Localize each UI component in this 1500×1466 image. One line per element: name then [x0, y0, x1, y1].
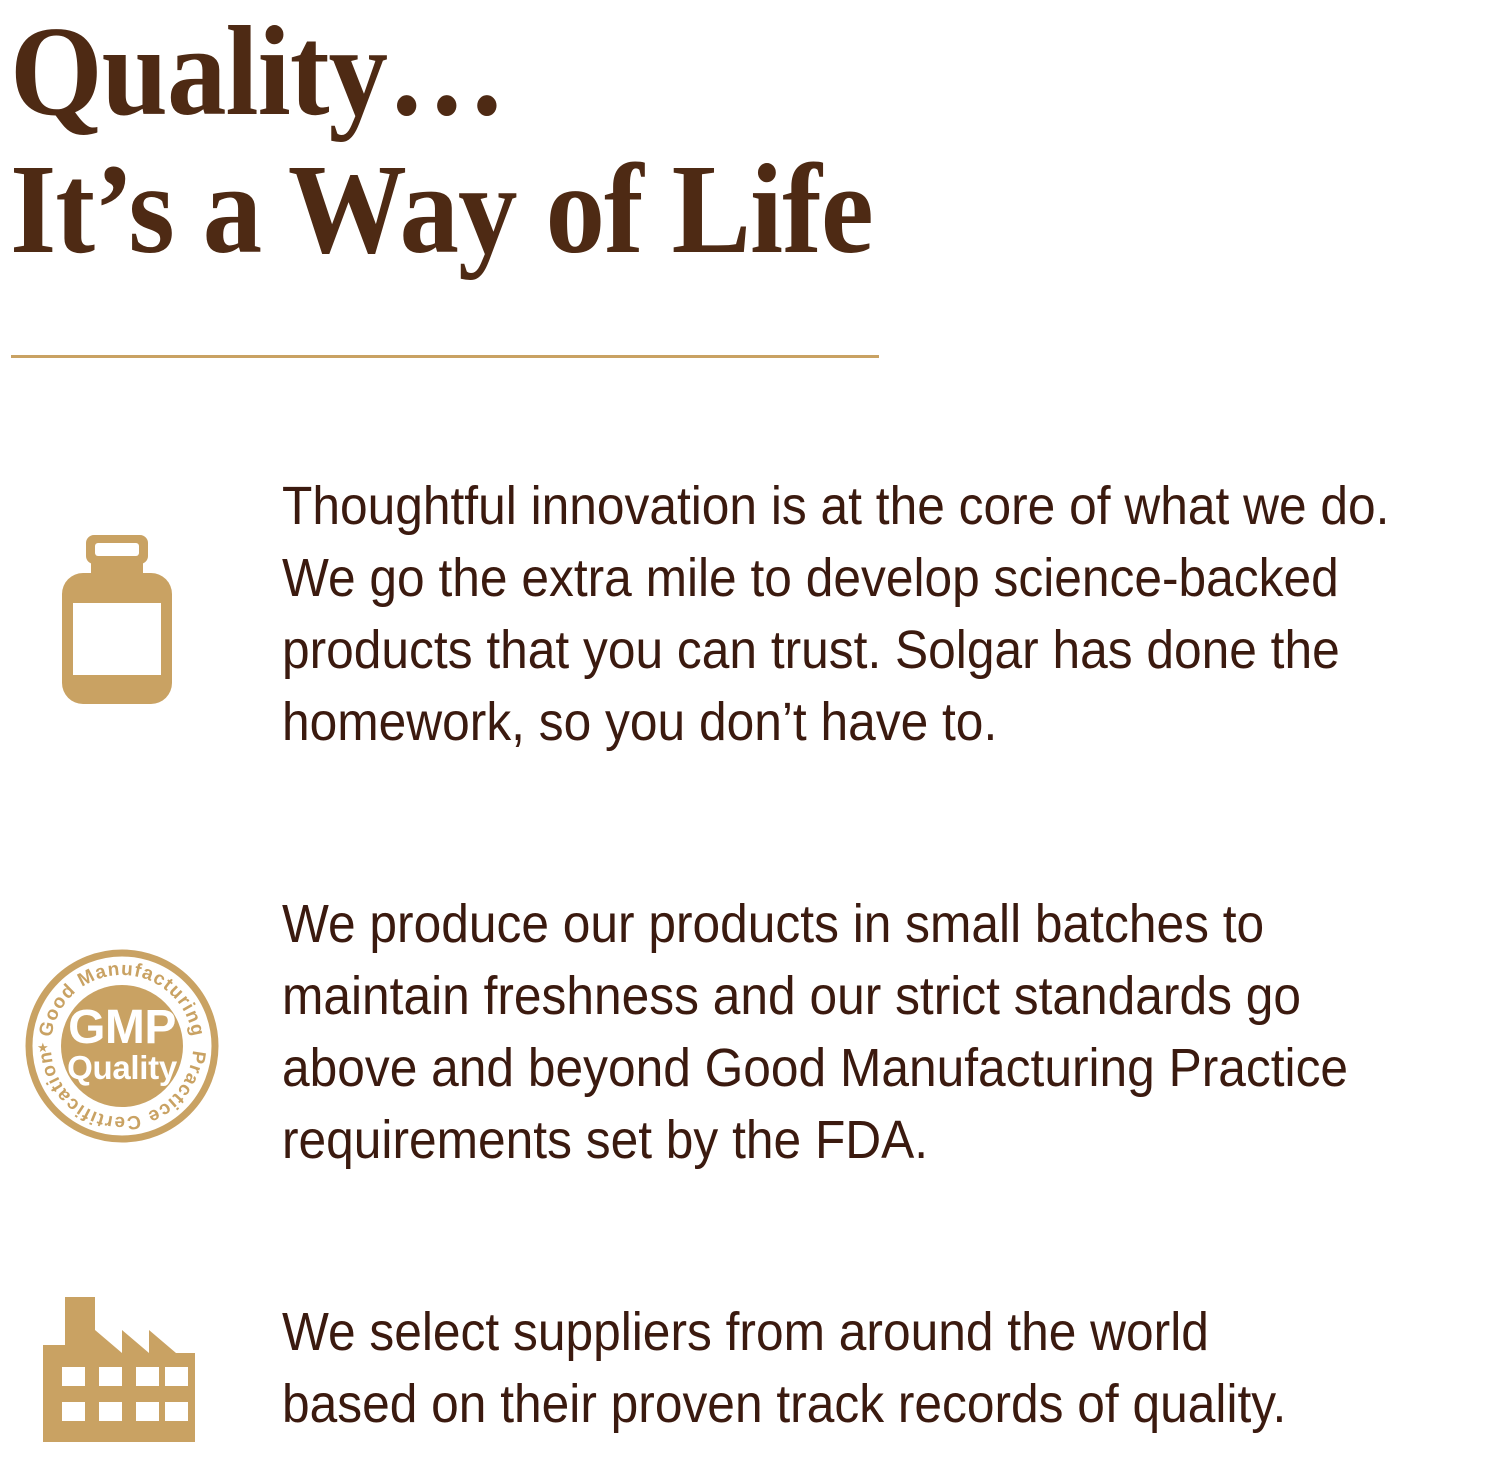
feature-icon-slot: Good Manufacturing Practice Certificatio…: [0, 888, 250, 1188]
supplement-bottle-icon: [61, 535, 173, 710]
page-title: Quality… It’s a Way of Life: [10, 2, 1210, 278]
feature-icon-slot: [0, 1296, 250, 1466]
page-title-line-1: Quality…: [10, 2, 1126, 140]
gmp-center-line-1: GMP: [68, 1001, 176, 1054]
feature-text-line: based on their proven track records of q…: [282, 1368, 1400, 1440]
feature-icon-slot: [0, 470, 250, 770]
feature-text-line: We produce our products in small batches…: [282, 888, 1400, 960]
gmp-quality-seal-icon: Good Manufacturing Practice Certificatio…: [24, 948, 220, 1149]
feature-text-line: maintain freshness and our strict standa…: [282, 960, 1400, 1032]
gmp-star-icon: ★: [37, 1041, 49, 1056]
gmp-center-line-2: Quality: [67, 1049, 178, 1086]
gold-divider-rule: [11, 355, 879, 358]
feature-text-line: products that you can trust. Solgar has …: [282, 614, 1400, 686]
feature-text-line: Thoughtful innovation is at the core of …: [282, 470, 1400, 542]
feature-text-gmp: We produce our products in small batches…: [282, 888, 1400, 1176]
feature-text-line: homework, so you don’t have to.: [282, 686, 1400, 758]
feature-row-gmp: Good Manufacturing Practice Certificatio…: [0, 888, 1500, 1188]
page-title-line-2: It’s a Way of Life: [10, 140, 1126, 278]
feature-text-suppliers: We select suppliers from around the worl…: [282, 1296, 1400, 1440]
feature-row-suppliers: We select suppliers from around the worl…: [0, 1296, 1500, 1466]
feature-text-line: We select suppliers from around the worl…: [282, 1296, 1400, 1368]
feature-text-line: requirements set by the FDA.: [282, 1104, 1400, 1176]
feature-text-innovation: Thoughtful innovation is at the core of …: [282, 470, 1400, 758]
feature-text-line: above and beyond Good Manufacturing Prac…: [282, 1032, 1400, 1104]
feature-row-innovation: Thoughtful innovation is at the core of …: [0, 470, 1500, 770]
factory-icon: [43, 1297, 195, 1447]
feature-text-line: We go the extra mile to develop science-…: [282, 542, 1400, 614]
